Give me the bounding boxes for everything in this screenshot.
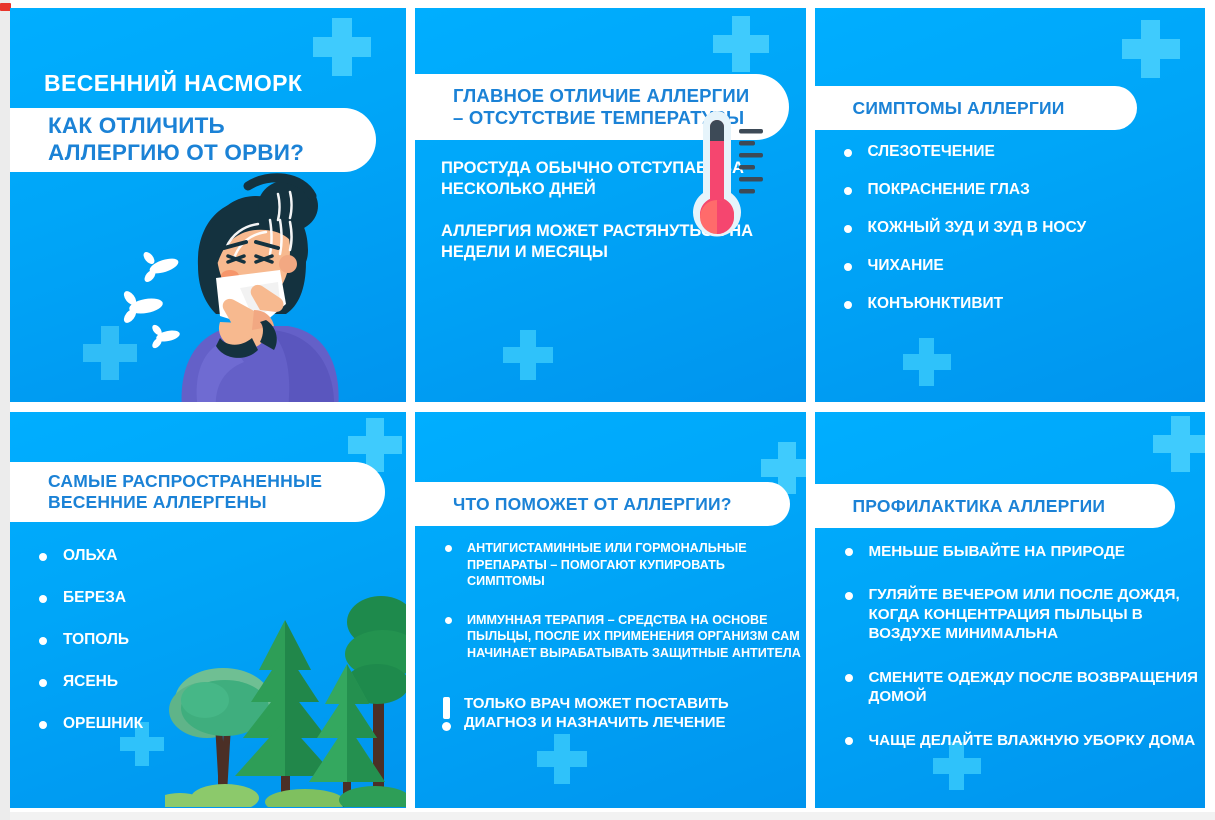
panel-heading: ПРОФИЛАКТИКА АЛЛЕРГИИ [853,496,1106,517]
list-item: КОЖНЫЙ ЗУД И ЗУД В НОСУ [842,219,1182,238]
panel-heading: ЧТО ПОМОЖЕТ ОТ АЛЛЕРГИИ? [453,494,732,515]
forest-trees-illustration [165,592,406,807]
panel-eyebrow: ВЕСЕННИЙ НАСМОРК [44,70,302,98]
panel-heading-pill: ПРОФИЛАКТИКА АЛЛЕРГИИ [815,484,1175,528]
list-item: КОНЪЮНКТИВИТ [842,295,1182,314]
panel-heading-pill: СИМПТОМЫ АЛЛЕРГИИ [815,86,1137,130]
panel-heading: КАК ОТЛИЧИТЬ АЛЛЕРГИЮ ОТ ОРВИ? [48,113,342,166]
infographic-canvas: ВЕСЕННИЙ НАСМОРК КАК ОТЛИЧИТЬ АЛЛЕРГИЮ О… [0,0,1215,820]
panel-heading-pill: ЧТО ПОМОЖЕТ ОТ АЛЛЕРГИИ? [415,482,790,526]
plus-cross-icon [1122,20,1180,78]
exclamation-icon [441,695,453,731]
panel-grid: ВЕСЕННИЙ НАСМОРК КАК ОТЛИЧИТЬ АЛЛЕРГИЮ О… [10,8,1205,808]
prevention-list: МЕНЬШЕ БЫВАЙТЕ НА ПРИРОДЕ ГУЛЯЙТЕ ВЕЧЕРО… [843,542,1206,774]
panel-common-spring-allergens: САМЫЕ РАСПРОСТРАНЕННЫЕ ВЕСЕННИЕ АЛЛЕРГЕН… [10,412,406,808]
panel-heading: САМЫЕ РАСПРОСТРАНЕННЫЕ ВЕСЕННИЕ АЛЛЕРГЕН… [48,471,351,512]
thermometer-illustration [677,111,772,251]
plus-cross-icon [537,734,587,784]
list-item: ЧАЩЕ ДЕЛАЙТЕ ВЛАЖНУЮ УБОРКУ ДОМА [843,731,1206,750]
plus-cross-icon [503,330,553,380]
panel-main-difference: ГЛАВНОЕ ОТЛИЧИЕ АЛЛЕРГИИ – ОТСУТСТВИЕ ТЕ… [415,8,806,402]
panel-allergy-symptoms: СИМПТОМЫ АЛЛЕРГИИ СЛЕЗОТЕЧЕНИЕ ПОКРАСНЕН… [815,8,1206,402]
panel-what-helps: ЧТО ПОМОЖЕТ ОТ АЛЛЕРГИИ? АНТИГИСТАМИННЫЕ… [415,412,806,808]
list-item: ПОКРАСНЕНИЕ ГЛАЗ [842,181,1182,200]
plus-cross-icon [713,16,769,72]
list-item: ОЛЬХА [37,547,367,566]
plus-cross-icon [313,18,371,76]
panel-heading-pill: КАК ОТЛИЧИТЬ АЛЛЕРГИЮ ОТ ОРВИ? [10,108,376,172]
list-item: ГУЛЯЙТЕ ВЕЧЕРОМ ИЛИ ПОСЛЕ ДОЖДЯ, КОГДА К… [843,585,1206,643]
sneezing-woman-illustration [120,170,360,402]
panel-spring-runny-nose: ВЕСЕННИЙ НАСМОРК КАК ОТЛИЧИТЬ АЛЛЕРГИЮ О… [10,8,406,402]
doctor-warning-text: ТОЛЬКО ВРАЧ МОЖЕТ ПОСТАВИТЬ ДИАГНОЗ И НА… [464,695,791,733]
list-item: ЧИХАНИЕ [842,257,1182,276]
doctor-warning: ТОЛЬКО ВРАЧ МОЖЕТ ПОСТАВИТЬ ДИАГНОЗ И НА… [441,695,791,733]
treatment-list: АНТИГИСТАМИННЫЕ ИЛИ ГОРМОНАЛЬНЫЕ ПРЕПАРА… [443,540,803,684]
left-gutter [0,0,10,820]
list-item: МЕНЬШЕ БЫВАЙТЕ НА ПРИРОДЕ [843,542,1206,561]
list-item: АНТИГИСТАМИННЫЕ ИЛИ ГОРМОНАЛЬНЫЕ ПРЕПАРА… [443,540,803,590]
list-item: СЛЕЗОТЕЧЕНИЕ [842,143,1182,162]
plus-cross-icon [903,338,951,386]
symptom-list: СЛЕЗОТЕЧЕНИЕ ПОКРАСНЕНИЕ ГЛАЗ КОЖНЫЙ ЗУД… [842,143,1182,333]
panel-heading: СИМПТОМЫ АЛЛЕРГИИ [853,98,1065,119]
panel-heading-pill: САМЫЕ РАСПРОСТРАНЕННЫЕ ВЕСЕННИЕ АЛЛЕРГЕН… [10,462,385,522]
list-item: СМЕНИТЕ ОДЕЖДУ ПОСЛЕ ВОЗВРАЩЕНИЯ ДОМОЙ [843,668,1206,707]
list-item: ИММУННАЯ ТЕРАПИЯ – СРЕДСТВА НА ОСНОВЕ ПЫ… [443,612,803,662]
panel-allergy-prevention: ПРОФИЛАКТИКА АЛЛЕРГИИ МЕНЬШЕ БЫВАЙТЕ НА … [815,412,1206,808]
plus-cross-icon [1153,416,1206,472]
